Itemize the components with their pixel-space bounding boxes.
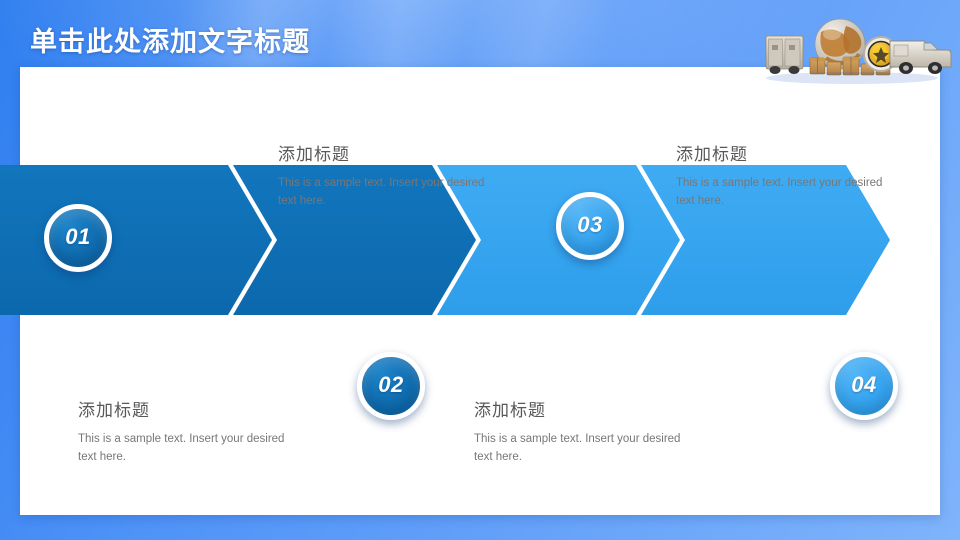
slide-title: 单击此处添加文字标题: [30, 20, 310, 59]
caption-block-3: 添加标题 This is a sample text. Insert your …: [474, 396, 689, 467]
slide-canvas: 单击此处添加文字标题: [0, 0, 960, 540]
step-badge-01[interactable]: 01: [44, 204, 112, 272]
caption-heading-2: 添加标题: [278, 140, 493, 165]
step-badge-02-number: 02: [378, 372, 403, 398]
caption-body-2: This is a sample text. Insert your desir…: [278, 175, 493, 211]
caption-block-4: 添加标题 This is a sample text. Insert your …: [676, 140, 891, 211]
step-badge-04-number: 04: [851, 372, 876, 398]
step-badge-04[interactable]: 04: [830, 352, 898, 420]
caption-heading-3: 添加标题: [474, 396, 689, 421]
caption-block-2: 添加标题 This is a sample text. Insert your …: [278, 140, 493, 211]
caption-body-4: This is a sample text. Insert your desir…: [676, 175, 891, 211]
step-badge-01-number: 01: [65, 224, 90, 250]
step-badge-03-number: 03: [577, 212, 602, 238]
caption-heading-4: 添加标题: [676, 140, 891, 165]
caption-body-1: This is a sample text. Insert your desir…: [78, 431, 293, 467]
caption-body-3: This is a sample text. Insert your desir…: [474, 431, 689, 467]
step-badge-03[interactable]: 03: [556, 192, 624, 260]
step-badge-02[interactable]: 02: [357, 352, 425, 420]
chevron-step-1[interactable]: [0, 165, 272, 315]
caption-block-1: 添加标题 This is a sample text. Insert your …: [78, 396, 293, 467]
caption-heading-1: 添加标题: [78, 396, 293, 421]
logistics-decoration-icon: [748, 14, 956, 86]
